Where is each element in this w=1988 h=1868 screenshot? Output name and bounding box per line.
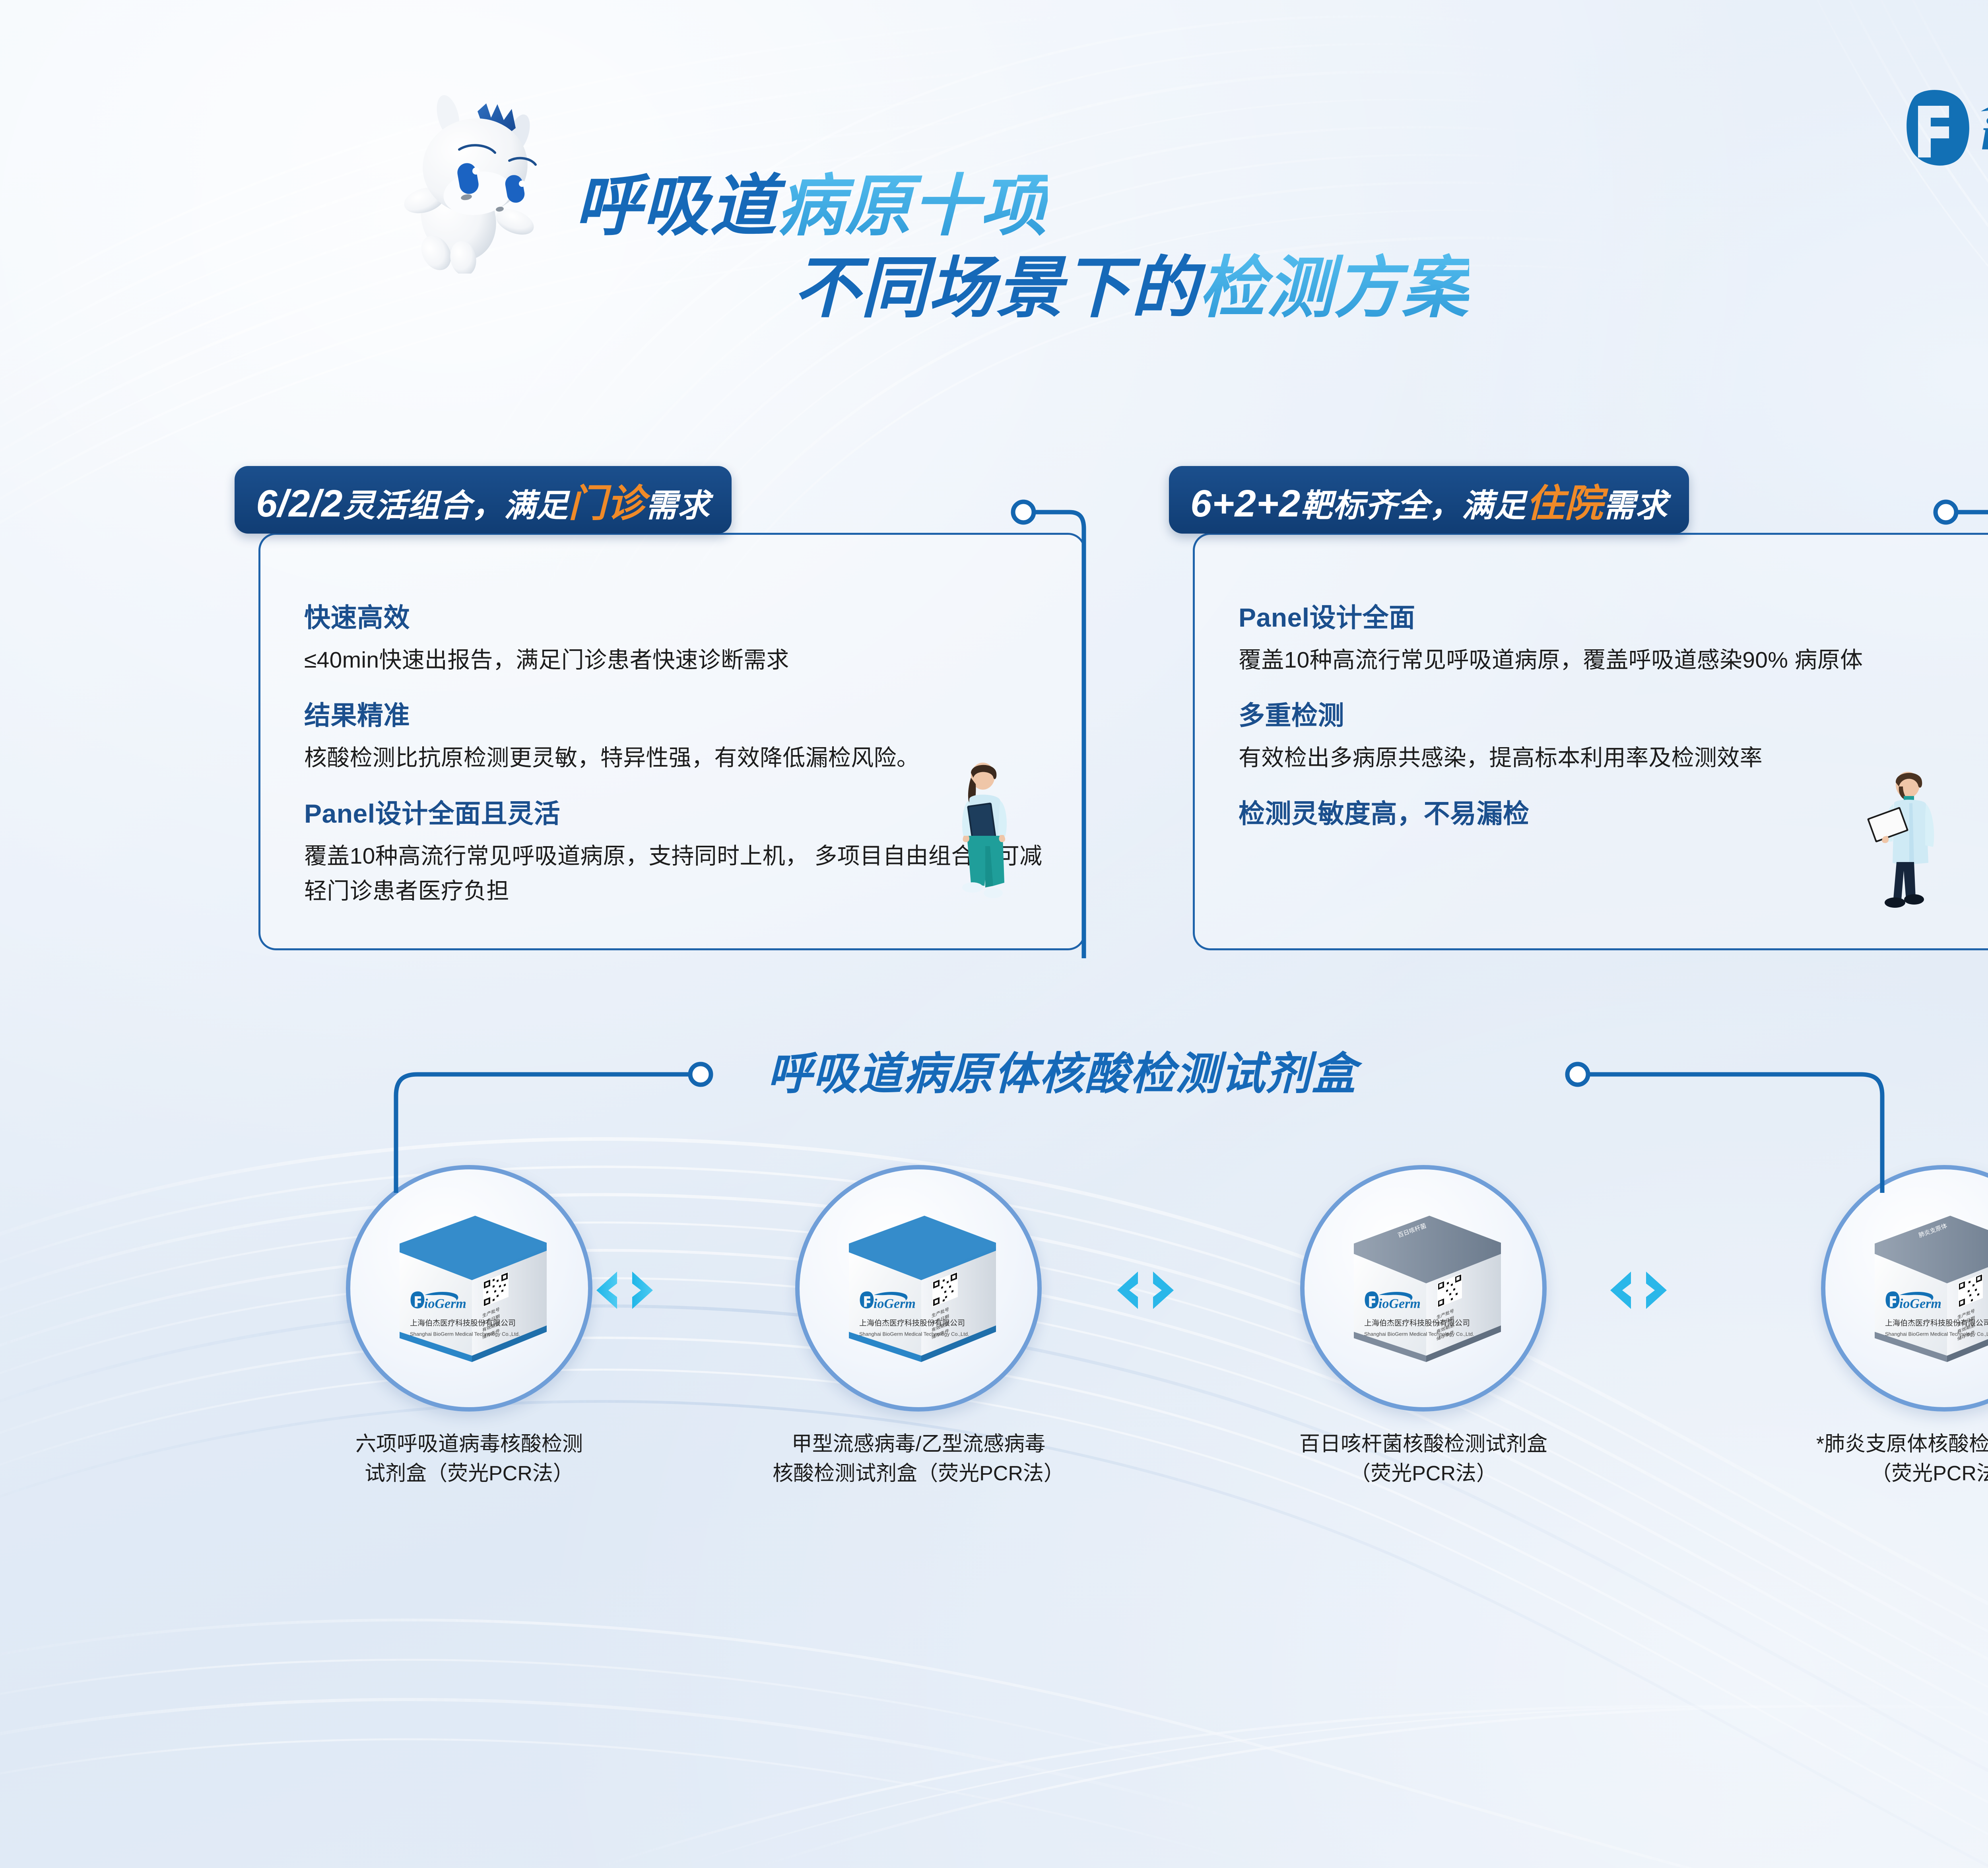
title-line2-dark: 不同场景下的 xyxy=(793,250,1199,325)
banner-mid: 靶标齐全，满足 xyxy=(1301,488,1526,523)
product-caption: 甲型流感病毒/乙型流感病毒 核酸检测试剂盒（荧光PCR法） xyxy=(724,1430,1113,1489)
feature-item: 快速高效 ≤40min快速出报告，满足门诊患者快速诊断需求 xyxy=(304,596,1046,678)
banner-prefix: 6+2+2 xyxy=(1190,482,1301,525)
product-item[interactable]: ioGerm 上海伯杰医疗科技股份有限公司 Shanghai BioGerm M… xyxy=(274,1165,664,1489)
nurse-svg xyxy=(946,759,1050,918)
double-chevron-icon xyxy=(1113,1264,1193,1316)
product-box-image: ioGerm 上海伯杰医疗科技股份有限公司 Shanghai BioGerm M… xyxy=(833,1204,1004,1373)
feature-item: Panel设计全面 覆盖10种高流行常见呼吸道病原，覆盖呼吸道感染90% 病原体 xyxy=(1239,596,1972,678)
banner-prefix: 6/2/2 xyxy=(256,482,343,525)
product-arrow xyxy=(1113,1264,1193,1316)
product-box-svg-1: ioGerm 上海伯杰医疗科技股份有限公司 Shanghai BioGerm M… xyxy=(384,1204,555,1371)
product-disc: ioGerm 上海伯杰医疗科技股份有限公司 Shanghai BioGerm M… xyxy=(795,1165,1042,1412)
banner-post: 需求 xyxy=(646,488,710,523)
feature-item: 检测灵敏度高，不易漏检 xyxy=(1239,792,1972,831)
product-box-svg-4: 肺炎支原体 ioGerm 上海伯杰医疗科技股份有限公司 Shanghai Bio… xyxy=(1859,1204,1988,1371)
feature-item: 多重检测 有效检出多病原共感染，提高标本利用率及检测效率 xyxy=(1239,694,1972,775)
banner-post: 需求 xyxy=(1603,488,1668,523)
feature-title: 结果精准 xyxy=(304,694,1046,732)
feature-title: Panel设计全面且灵活 xyxy=(304,792,1046,831)
feature-desc: 覆盖10种高流行常见呼吸道病原，支持同时上机， 多项目自由组合，可减轻门诊患者医… xyxy=(304,839,1046,909)
product-item[interactable]: ioGerm 上海伯杰医疗科技股份有限公司 Shanghai BioGerm M… xyxy=(724,1165,1113,1489)
page-title: 呼吸道病原十项 不同场景下的检测方案 xyxy=(555,171,1469,323)
feature-desc: 核酸检测比抗原检测更灵敏，特异性强，有效降低漏检风险。 xyxy=(304,740,1046,775)
title-line1-light: 病原十项 xyxy=(777,169,1048,243)
card-inpatient: Panel设计全面 覆盖10种高流行常见呼吸道病原，覆盖呼吸道感染90% 病原体… xyxy=(1193,533,1988,950)
product-caption: 百日咳杆菌核酸检测试剂盒 （荧光PCR法） xyxy=(1229,1430,1618,1489)
product-box-svg-3: 百日咳杆菌 ioGerm 上海伯杰医疗科技股份有限公司 Shanghai Bio… xyxy=(1338,1204,1509,1371)
banner-text: 6+2+2靶标齐全，满足住院需求 xyxy=(1190,472,1668,528)
feature-item: Panel设计全面且灵活 覆盖10种高流行常见呼吸道病原，支持同时上机， 多项目… xyxy=(304,792,1046,909)
doctor-svg xyxy=(1865,763,1972,922)
biogerm-logo: ioG erm 伯 杰 xyxy=(1903,80,1988,179)
logo-b-mark xyxy=(1906,90,1969,165)
banner-text: 6/2/2灵活组合，满足门诊需求 xyxy=(256,472,710,528)
banner-highlight: 门诊 xyxy=(569,482,646,525)
title-line2-light: 检测方案 xyxy=(1199,250,1469,325)
feature-title: Panel设计全面 xyxy=(1239,596,1972,635)
product-caption: 六项呼吸道病毒核酸检测 试剂盒（荧光PCR法） xyxy=(274,1430,664,1489)
feature-item: 结果精准 核酸检测比抗原检测更灵敏，特异性强，有效降低漏检风险。 xyxy=(304,694,1046,775)
product-box-svg-2: ioGerm 上海伯杰医疗科技股份有限公司 Shanghai BioGerm M… xyxy=(833,1204,1004,1371)
feature-title: 多重检测 xyxy=(1239,694,1972,732)
product-box-image: 肺炎支原体 ioGerm 上海伯杰医疗科技股份有限公司 Shanghai Bio… xyxy=(1859,1204,1988,1373)
feature-title: 快速高效 xyxy=(304,596,1046,635)
svg-text:Shanghai BioGerm Medical Techn: Shanghai BioGerm Medical Technology Co.,… xyxy=(859,1331,969,1337)
product-disc: 肺炎支原体 ioGerm 上海伯杰医疗科技股份有限公司 Shanghai Bio… xyxy=(1821,1165,1988,1412)
card-outpatient: 快速高效 ≤40min快速出报告，满足门诊患者快速诊断需求 结果精准 核酸检测比… xyxy=(258,533,1085,950)
mascot-character xyxy=(400,87,551,274)
box-company-cn: 上海伯杰医疗科技股份有限公司 xyxy=(410,1319,516,1328)
mascot-svg xyxy=(400,87,551,274)
svg-text:ioGerm: ioGerm xyxy=(424,1297,466,1311)
doctor-figure xyxy=(1865,763,1972,922)
box-company-en: Shanghai BioGerm Medical Technology Co.,… xyxy=(410,1331,520,1337)
banner-highlight: 住院 xyxy=(1526,482,1603,525)
feature-title: 检测灵敏度高，不易漏检 xyxy=(1239,792,1972,831)
product-box-image: 百日咳杆菌 ioGerm 上海伯杰医疗科技股份有限公司 Shanghai Bio… xyxy=(1338,1204,1509,1373)
product-caption: *肺炎支原体核酸检测试剂盒 （荧光PCR法） xyxy=(1749,1430,1988,1489)
feature-desc: 有效检出多病原共感染，提高标本利用率及检测效率 xyxy=(1239,740,1972,775)
product-arrow xyxy=(592,1264,672,1316)
svg-text:ioGerm: ioGerm xyxy=(1899,1297,1941,1311)
double-chevron-icon xyxy=(1606,1264,1686,1316)
title-line1-dark: 呼吸道 xyxy=(575,169,777,243)
logo-svg: ioG erm 伯 杰 xyxy=(1903,80,1988,179)
product-item[interactable]: 肺炎支原体 ioGerm 上海伯杰医疗科技股份有限公司 Shanghai Bio… xyxy=(1749,1165,1988,1489)
product-disc: ioGerm 上海伯杰医疗科技股份有限公司 Shanghai BioGerm M… xyxy=(346,1165,592,1412)
product-item[interactable]: 百日咳杆菌 ioGerm 上海伯杰医疗科技股份有限公司 Shanghai Bio… xyxy=(1229,1165,1618,1489)
section-title: 呼吸道病原体核酸检测试剂盒 xyxy=(767,1038,1357,1102)
banner-mid: 灵活组合，满足 xyxy=(343,488,569,523)
card-inpatient-banner: 6+2+2靶标齐全，满足住院需求 xyxy=(1169,466,1689,534)
product-disc: 百日咳杆菌 ioGerm 上海伯杰医疗科技股份有限公司 Shanghai Bio… xyxy=(1300,1165,1547,1412)
svg-text:ioGerm: ioGerm xyxy=(1378,1297,1421,1311)
product-arrow xyxy=(1606,1264,1686,1316)
svg-text:ioGerm: ioGerm xyxy=(874,1297,916,1311)
feature-desc: ≤40min快速出报告，满足门诊患者快速诊断需求 xyxy=(304,643,1046,678)
double-chevron-icon xyxy=(592,1264,672,1316)
product-box-image: ioGerm 上海伯杰医疗科技股份有限公司 Shanghai BioGerm M… xyxy=(384,1204,555,1373)
svg-text:ioG: ioG xyxy=(1981,109,1988,160)
svg-text:上海伯杰医疗科技股份有限公司: 上海伯杰医疗科技股份有限公司 xyxy=(1364,1319,1470,1328)
nurse-figure xyxy=(946,759,1050,918)
feature-desc: 覆盖10种高流行常见呼吸道病原，覆盖呼吸道感染90% 病原体 xyxy=(1239,643,1972,678)
svg-text:上海伯杰医疗科技股份有限公司: 上海伯杰医疗科技股份有限公司 xyxy=(859,1319,965,1328)
card-outpatient-banner: 6/2/2灵活组合，满足门诊需求 xyxy=(235,466,732,534)
svg-text:Shanghai BioGerm Medical Techn: Shanghai BioGerm Medical Technology Co.,… xyxy=(1364,1331,1474,1337)
